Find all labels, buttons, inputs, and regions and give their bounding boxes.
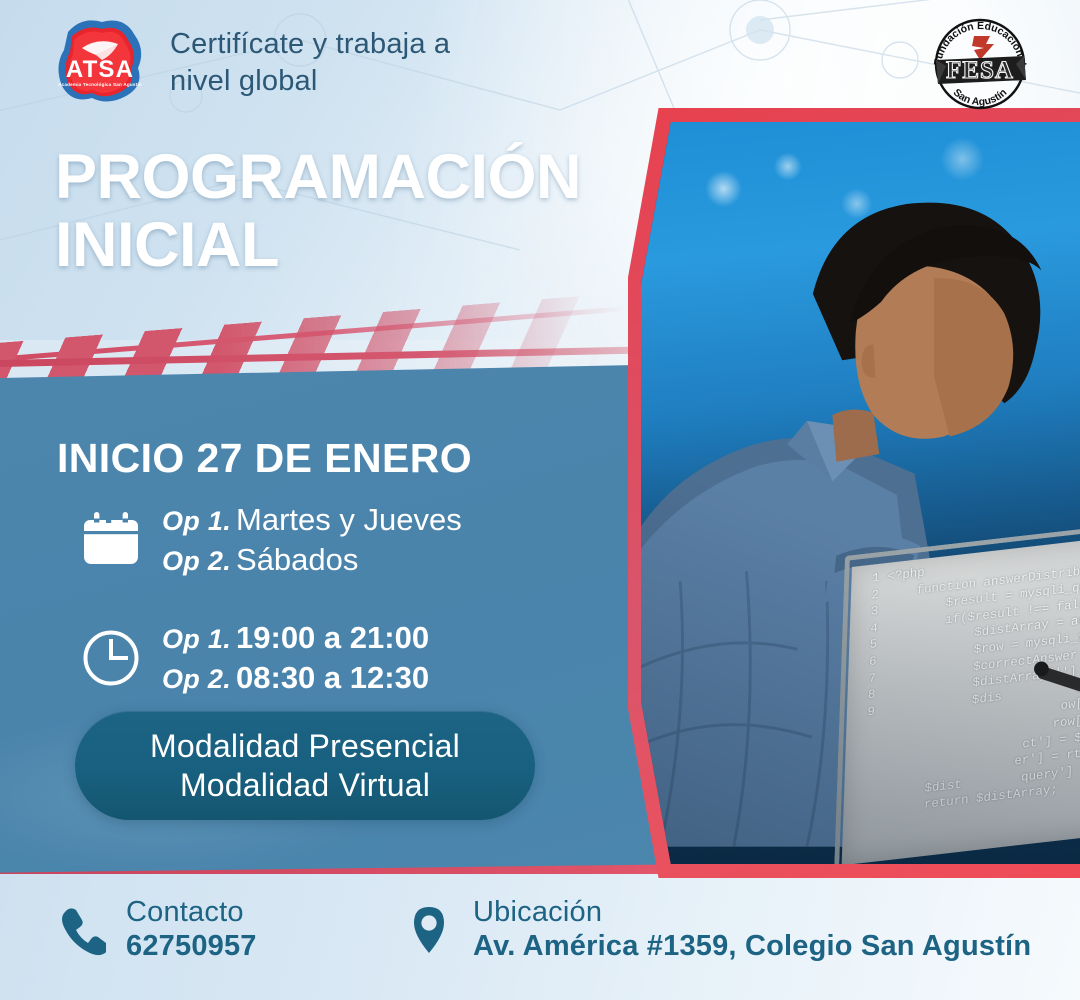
title-line-1: PROGRAMACIÓN [55,142,581,212]
op-value-2: Sábados [236,542,358,577]
contact-value: 62750957 [126,929,257,963]
poster-root: ATSA Academia Tecnológica San Agustín Ce… [0,0,1080,1000]
title-line-2: INICIAL [55,211,581,279]
calendar-icon [78,507,144,573]
footer: Contacto 62750957 Ubicación Av. América … [0,874,1080,1000]
phone-icon [58,904,106,956]
modality-badge[interactable]: Modalidad Presencial Modalidad Virtual [75,711,535,820]
atsa-subtext: Academia Tecnológica San Agustín [58,82,142,87]
op-value-3: 19:00 a 21:00 [236,620,429,655]
location-block[interactable]: Ubicación Av. América #1359, Colegio San… [405,896,1031,963]
map-pin-icon [405,904,453,956]
hexagon-photo-frame: 1<?php2 function answerDistribution($dbc… [628,108,1080,878]
op-label-2: Op 2. [162,546,231,576]
location-value: Av. América #1359, Colegio San Agustín [473,929,1031,963]
page-title: PROGRAMACIÓN INICIAL [55,143,581,279]
schedule-days-row-2: Op 2.Sábados [162,540,462,580]
modality-line-1: Modalidad Presencial [150,727,460,765]
schedule-hours-row-2: Op 2.08:30 a 12:30 [162,658,429,698]
op-value-1: Martes y Jueves [236,502,462,537]
op-label-4: Op 2. [162,664,231,694]
atsa-wordmark: ATSA [66,56,134,83]
fesa-wordmark: FESA [946,57,1014,84]
schedule-days-row-1: Op 1.Martes y Jueves [162,500,462,540]
atsa-logo: ATSA Academia Tecnológica San Agustín [52,14,148,106]
schedule-days-row: Op 1.Martes y Jueves Op 2.Sábados [78,500,462,581]
contact-label: Contacto [126,896,257,929]
modality-line-2: Modalidad Virtual [180,766,430,804]
op-label-3: Op 1. [162,624,231,654]
schedule-hours-lines: Op 1.19:00 a 21:00 Op 2.08:30 a 12:30 [162,618,429,699]
student-photo: 1<?php2 function answerDistribution($dbc… [641,122,1080,864]
header: ATSA Academia Tecnológica San Agustín Ce… [0,0,1080,120]
op-label-1: Op 1. [162,506,231,536]
tagline-line-1: Certifícate y trabaja a [170,26,590,63]
location-label: Ubicación [473,896,1031,929]
start-date-heading: INICIO 27 DE ENERO [57,435,472,482]
photo-vignette [641,122,1080,864]
op-value-4: 08:30 a 12:30 [236,660,429,695]
fesa-logo: Fundación Educacional San Agustín FESA [928,14,1032,110]
schedule-hours-row: Op 1.19:00 a 21:00 Op 2.08:30 a 12:30 [78,618,429,699]
contact-text: Contacto 62750957 [126,896,257,963]
location-text: Ubicación Av. América #1359, Colegio San… [473,896,1031,963]
tagline: Certifícate y trabaja a nivel global [170,26,590,99]
schedule-days-lines: Op 1.Martes y Jueves Op 2.Sábados [162,500,462,581]
clock-icon [78,625,144,691]
tagline-line-2: nivel global [170,63,590,100]
contact-block[interactable]: Contacto 62750957 [58,896,257,963]
schedule-hours-row-1: Op 1.19:00 a 21:00 [162,618,429,658]
